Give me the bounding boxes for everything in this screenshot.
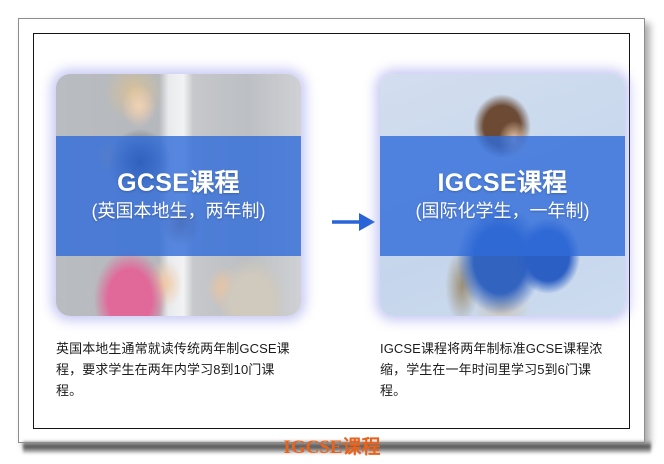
course-card-igcse[interactable]: IGCSE课程 (国际化学生，一年制) (380, 74, 625, 316)
gcse-description: 英国本地生通常就读传统两年制GCSE课程，要求学生在两年内学习8到10门课程。 (56, 338, 291, 401)
igcse-title-band: IGCSE课程 (国际化学生，一年制) (380, 136, 625, 256)
igcse-description: IGCSE课程将两年制标准GCSE课程浓缩，学生在一年时间里学习5到6门课程。 (380, 338, 615, 401)
document-inner-border: GCSE课程 (英国本地生，两年制) 英国本地生通常就读传统两年制GCSE课程，… (33, 33, 630, 429)
gcse-title-band: GCSE课程 (英国本地生，两年制) (56, 136, 301, 256)
comparison-column-igcse: IGCSE课程 (国际化学生，一年制) IGCSE课程将两年制标准GCSE课程浓… (380, 74, 625, 401)
caption-label: IGCSE课程 (0, 435, 664, 461)
comparison-column-gcse: GCSE课程 (英国本地生，两年制) 英国本地生通常就读传统两年制GCSE课程，… (56, 74, 301, 401)
bottom-caption: IGCSE课程 (0, 435, 664, 464)
igcse-card-subtitle: (国际化学生，一年制) (416, 202, 590, 222)
course-comparison: GCSE课程 (英国本地生，两年制) 英国本地生通常就读传统两年制GCSE课程，… (34, 34, 629, 428)
igcse-card-title: IGCSE课程 (438, 170, 568, 198)
document-page-frame: GCSE课程 (英国本地生，两年制) 英国本地生通常就读传统两年制GCSE课程，… (18, 18, 645, 443)
gcse-card-subtitle: (英国本地生，两年制) (92, 202, 266, 222)
arrow-right-icon (330, 209, 378, 235)
gcse-card-title: GCSE课程 (117, 170, 240, 198)
course-card-gcse[interactable]: GCSE课程 (英国本地生，两年制) (56, 74, 301, 316)
